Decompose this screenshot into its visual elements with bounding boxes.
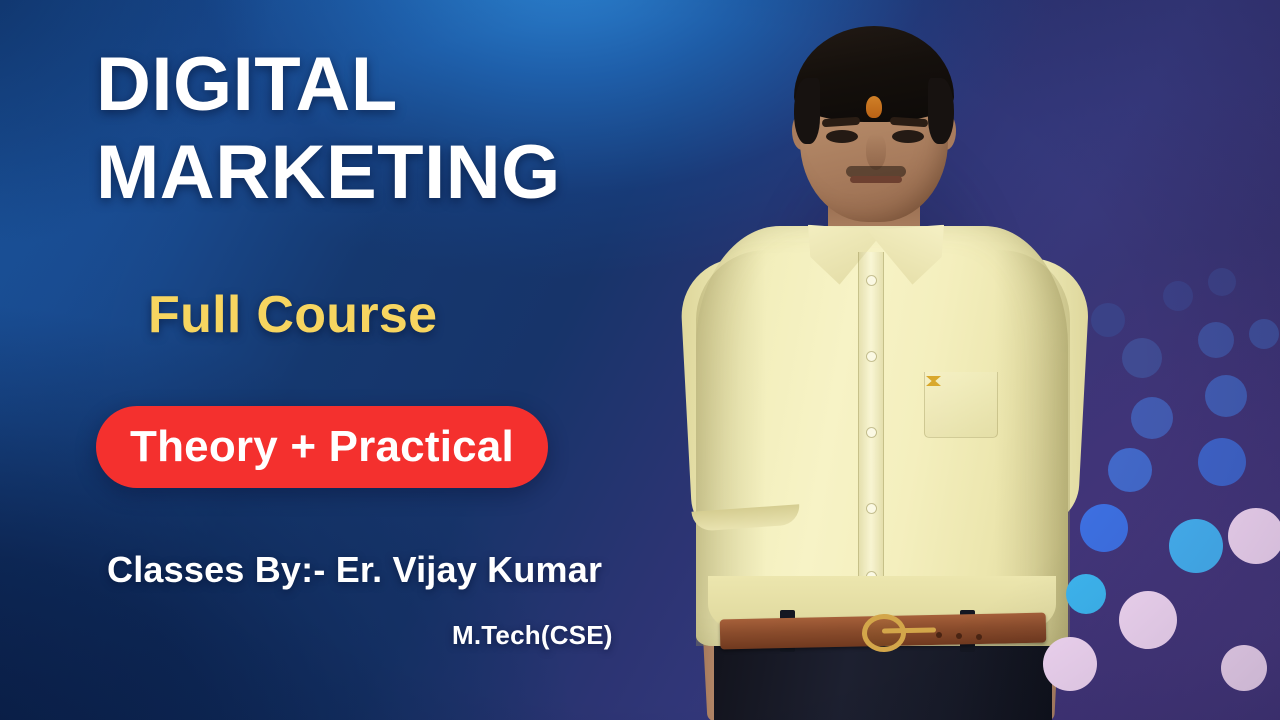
status-badge: Theory + Practical — [96, 406, 548, 488]
headline-line-1: DIGITAL — [96, 42, 398, 127]
subtitle: Full Course — [148, 285, 437, 345]
youtube-thumbnail: DIGITAL MARKETING Full Course Theory + P… — [0, 0, 1280, 720]
headline-line-2: MARKETING — [96, 136, 716, 210]
instructor-qualification: M.Tech(CSE) — [452, 620, 613, 651]
status-badge-label: Theory + Practical — [130, 422, 514, 472]
page-title: DIGITAL MARKETING — [96, 48, 716, 211]
instructor-credit: Classes By:- Er. Vijay Kumar — [107, 549, 602, 591]
